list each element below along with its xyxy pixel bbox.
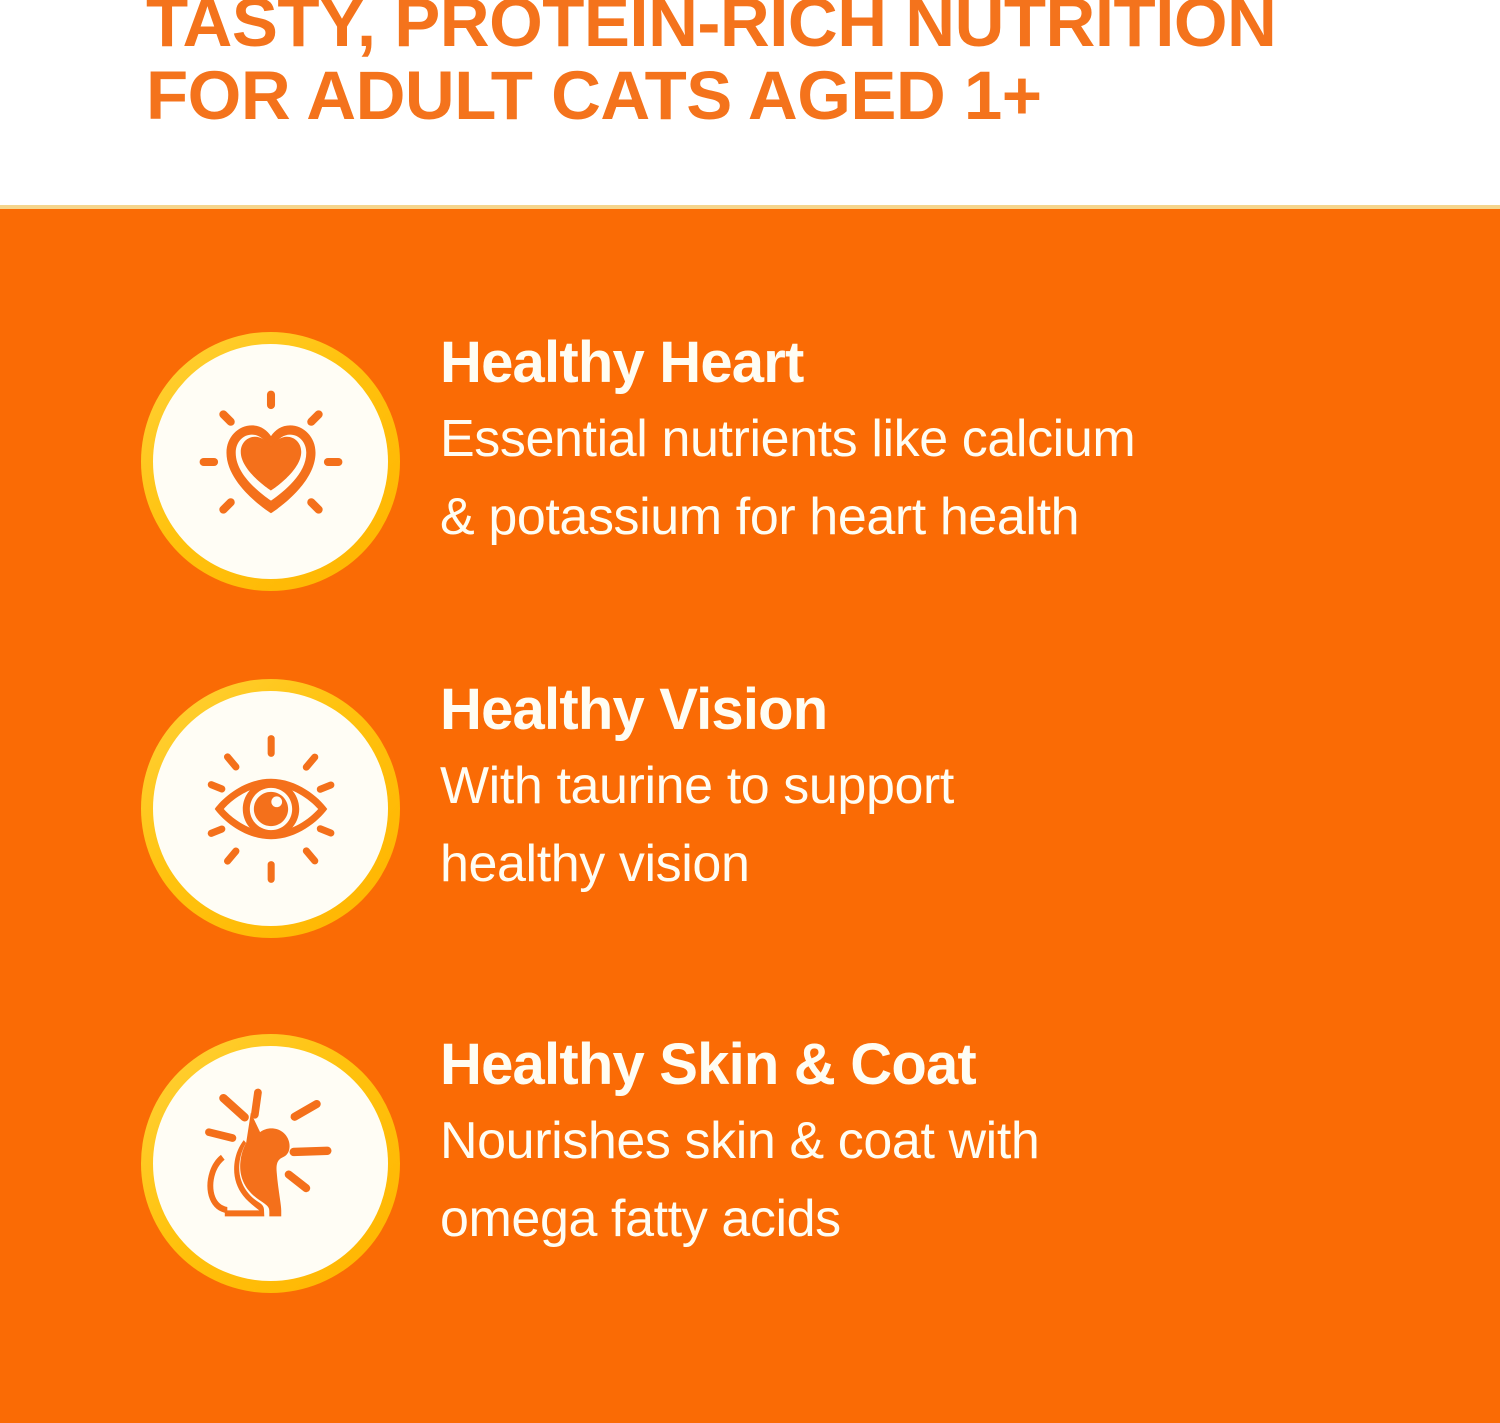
page-title: TASTY, PROTEIN-RICH NUTRITION FOR ADULT … — [146, 0, 1446, 132]
benefit-text-block: Healthy Vision With taurine to support h… — [400, 679, 1500, 903]
benefit-title: Healthy Vision — [440, 679, 1440, 741]
eye-rays-icon — [187, 725, 355, 893]
heart-rays-icon — [187, 378, 355, 546]
benefit-description: Essential nutrients like calcium & potas… — [440, 400, 1340, 556]
benefit-text-block: Healthy Heart Essential nutrients like c… — [400, 332, 1500, 556]
cat-rays-icon — [187, 1080, 355, 1248]
benefit-title: Healthy Heart — [440, 332, 1440, 394]
benefits-panel: Healthy Heart Essential nutrients like c… — [0, 205, 1500, 1423]
headline-band: TASTY, PROTEIN-RICH NUTRITION FOR ADULT … — [0, 0, 1500, 205]
benefit-row: Healthy Vision With taurine to support h… — [0, 679, 1500, 938]
benefit-title: Healthy Skin & Coat — [440, 1034, 1440, 1096]
benefit-row: Healthy Skin & Coat Nourishes skin & coa… — [0, 1034, 1500, 1293]
benefit-description: Nourishes skin & coat with omega fatty a… — [440, 1102, 1340, 1258]
benefit-description: With taurine to support healthy vision — [440, 747, 1340, 903]
benefit-row: Healthy Heart Essential nutrients like c… — [0, 332, 1500, 591]
benefit-icon-badge — [141, 1034, 400, 1293]
product-benefits-poster: TASTY, PROTEIN-RICH NUTRITION FOR ADULT … — [0, 0, 1500, 1423]
benefit-text-block: Healthy Skin & Coat Nourishes skin & coa… — [400, 1034, 1500, 1258]
benefit-icon-badge — [141, 679, 400, 938]
benefit-icon-badge — [141, 332, 400, 591]
